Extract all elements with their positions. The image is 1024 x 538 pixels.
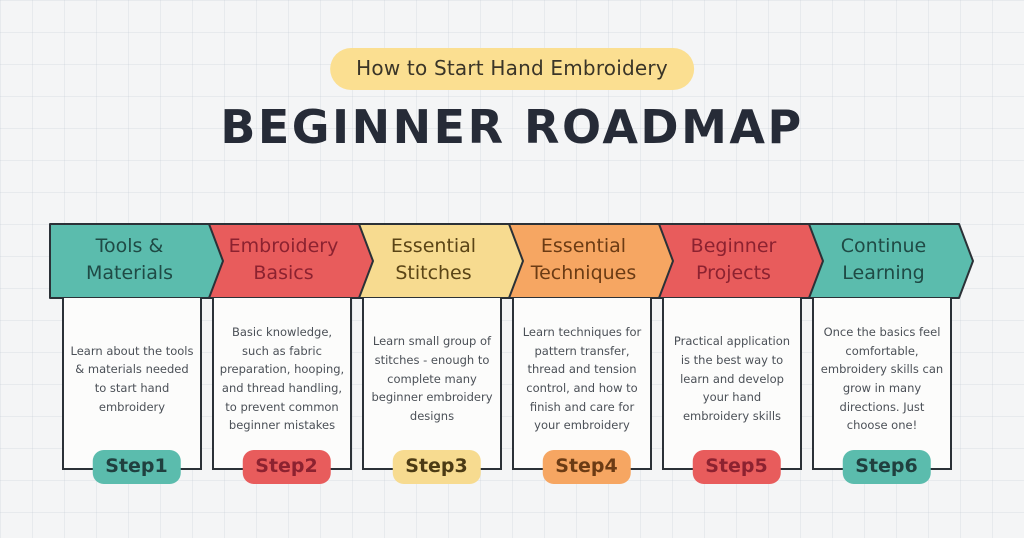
step-description-text: Learn about the tools & materials needed…	[64, 338, 200, 429]
step-title-line-2: Stitches	[395, 260, 471, 287]
step-header-chevron: Tools &Materials	[48, 222, 225, 298]
step-title-line-1: Beginner	[691, 233, 777, 260]
step-description-card: Once the basics feel comfortable, embroi…	[812, 298, 952, 470]
step-description-card: Learn small group of stitches - enough t…	[362, 298, 502, 470]
step-description-text: Learn techniques for pattern transfer, t…	[514, 319, 650, 447]
step-title-line-2: Techniques	[531, 260, 637, 287]
step-number-badge[interactable]: Step2	[242, 450, 330, 484]
step-title-line-1: Essential	[541, 233, 626, 260]
roadmap-steps: Tools &MaterialsLearn about the tools & …	[0, 222, 1024, 502]
step-number-badge[interactable]: Step4	[542, 450, 630, 484]
step-title-line-1: Embroidery	[229, 233, 339, 260]
roadmap-step[interactable]: Tools &MaterialsLearn about the tools & …	[48, 222, 225, 492]
step-number-badge[interactable]: Step1	[92, 450, 180, 484]
step-title-line-2: Basics	[253, 260, 313, 287]
step-description-card: Learn techniques for pattern transfer, t…	[512, 298, 652, 470]
step-title-line-1: Essential	[391, 233, 476, 260]
step-title-line-2: Projects	[696, 260, 771, 287]
step-description-text: Once the basics feel comfortable, embroi…	[814, 319, 950, 447]
step-number-badge[interactable]: Step6	[842, 450, 930, 484]
step-number-badge[interactable]: Step3	[392, 450, 480, 484]
step-title: Tools &Materials	[48, 222, 211, 298]
step-description-text: Practical application is the best way to…	[664, 328, 800, 437]
step-description-text: Basic knowledge, such as fabric preparat…	[214, 319, 350, 447]
step-description-text: Learn small group of stitches - enough t…	[364, 328, 500, 437]
step-title-line-1: Continue	[841, 233, 926, 260]
step-description-card: Basic knowledge, such as fabric preparat…	[212, 298, 352, 470]
infographic-canvas: How to Start Hand Embroidery BEGINNER RO…	[0, 0, 1024, 538]
step-title-line-2: Learning	[842, 260, 925, 287]
step-number-badge[interactable]: Step5	[692, 450, 780, 484]
step-description-card: Practical application is the best way to…	[662, 298, 802, 470]
subtitle-pill: How to Start Hand Embroidery	[330, 48, 694, 90]
step-title-line-2: Materials	[86, 260, 173, 287]
step-description-card: Learn about the tools & materials needed…	[62, 298, 202, 470]
step-title-line-1: Tools &	[96, 233, 164, 260]
page-title: BEGINNER ROADMAP	[220, 100, 803, 154]
